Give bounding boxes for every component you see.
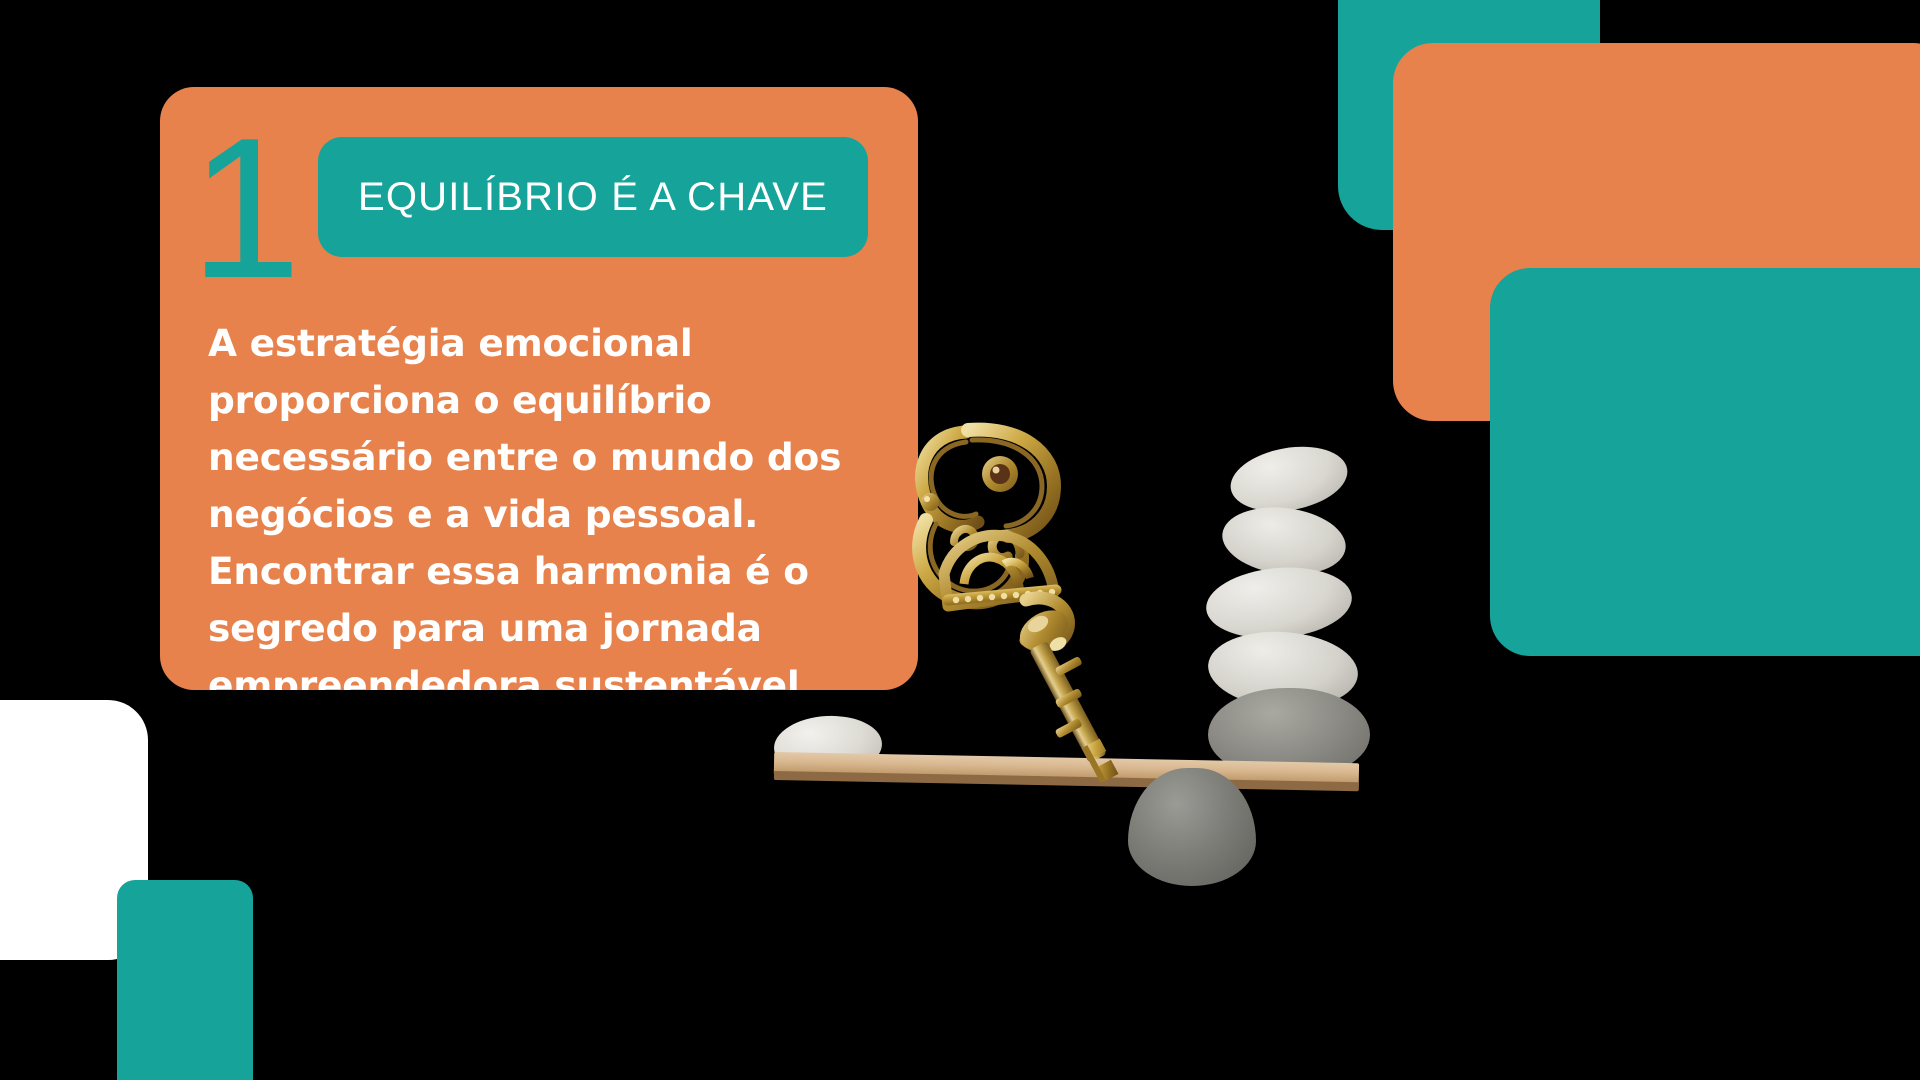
golden-key-icon: [898, 420, 1158, 782]
title-badge: EQUILÍBRIO É A CHAVE: [318, 137, 868, 257]
balance-illustration: [760, 400, 1400, 1080]
teal-block-middle-right: [1490, 268, 1920, 656]
slide-canvas: 1 EQUILÍBRIO É A CHAVE A estratégia emoc…: [0, 0, 1920, 1080]
title-badge-label: EQUILÍBRIO É A CHAVE: [358, 175, 828, 220]
teal-block-bottom-left: [117, 880, 253, 1080]
step-number: 1: [190, 109, 297, 309]
